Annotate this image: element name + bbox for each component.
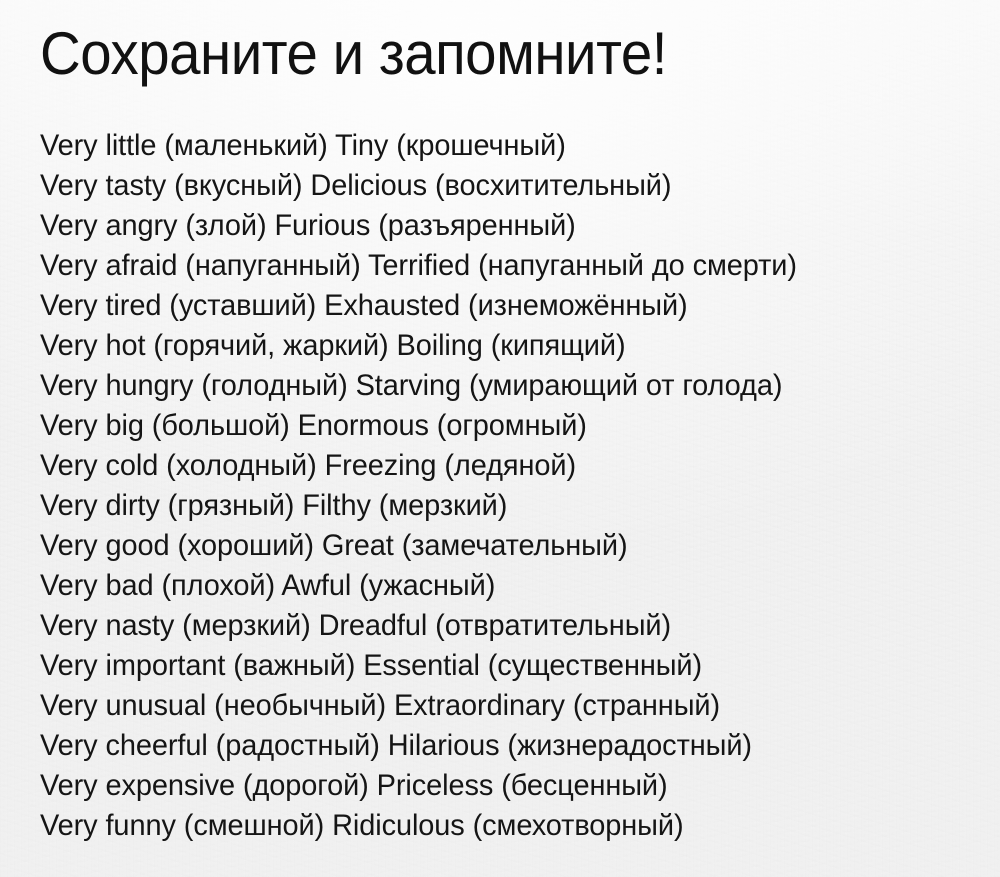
list-item: Very cold (холодный) Freezing (ледяной) (40, 446, 947, 486)
list-item: Very afraid (напуганный) Terrified (напу… (40, 246, 947, 286)
list-item: Very good (хороший) Great (замечательный… (40, 526, 947, 566)
list-item: Very little (маленький) Tiny (крошечный) (40, 126, 947, 166)
list-item: Very tasty (вкусный) Delicious (восхитит… (40, 166, 947, 206)
paper-page: Сохраните и запомните! Very little (мале… (0, 0, 1000, 877)
vocabulary-list: Very little (маленький) Tiny (крошечный)… (40, 126, 980, 846)
page-title: Сохраните и запомните! (40, 22, 667, 86)
list-item: Very dirty (грязный) Filthy (мерзкий) (40, 486, 947, 526)
list-item: Very expensive (дорогой) Priceless (бесц… (40, 766, 947, 806)
list-item: Very bad (плохой) Awful (ужасный) (40, 566, 947, 606)
list-item: Very angry (злой) Furious (разъяренный) (40, 206, 947, 246)
list-item: Very hot (горячий, жаркий) Boiling (кипя… (40, 326, 947, 366)
list-item: Very tired (уставший) Exhausted (изнемож… (40, 286, 947, 326)
list-item: Very cheerful (радостный) Hilarious (жиз… (40, 726, 947, 766)
list-item: Very funny (смешной) Ridiculous (смехотв… (40, 806, 947, 846)
list-item: Very nasty (мерзкий) Dreadful (отвратите… (40, 606, 947, 646)
list-item: Very important (важный) Essential (сущес… (40, 646, 947, 686)
list-item: Very big (большой) Enormous (огромный) (40, 406, 947, 446)
list-item: Very unusual (необычный) Extraordinary (… (40, 686, 947, 726)
list-item: Very hungry (голодный) Starving (умирающ… (40, 366, 947, 406)
